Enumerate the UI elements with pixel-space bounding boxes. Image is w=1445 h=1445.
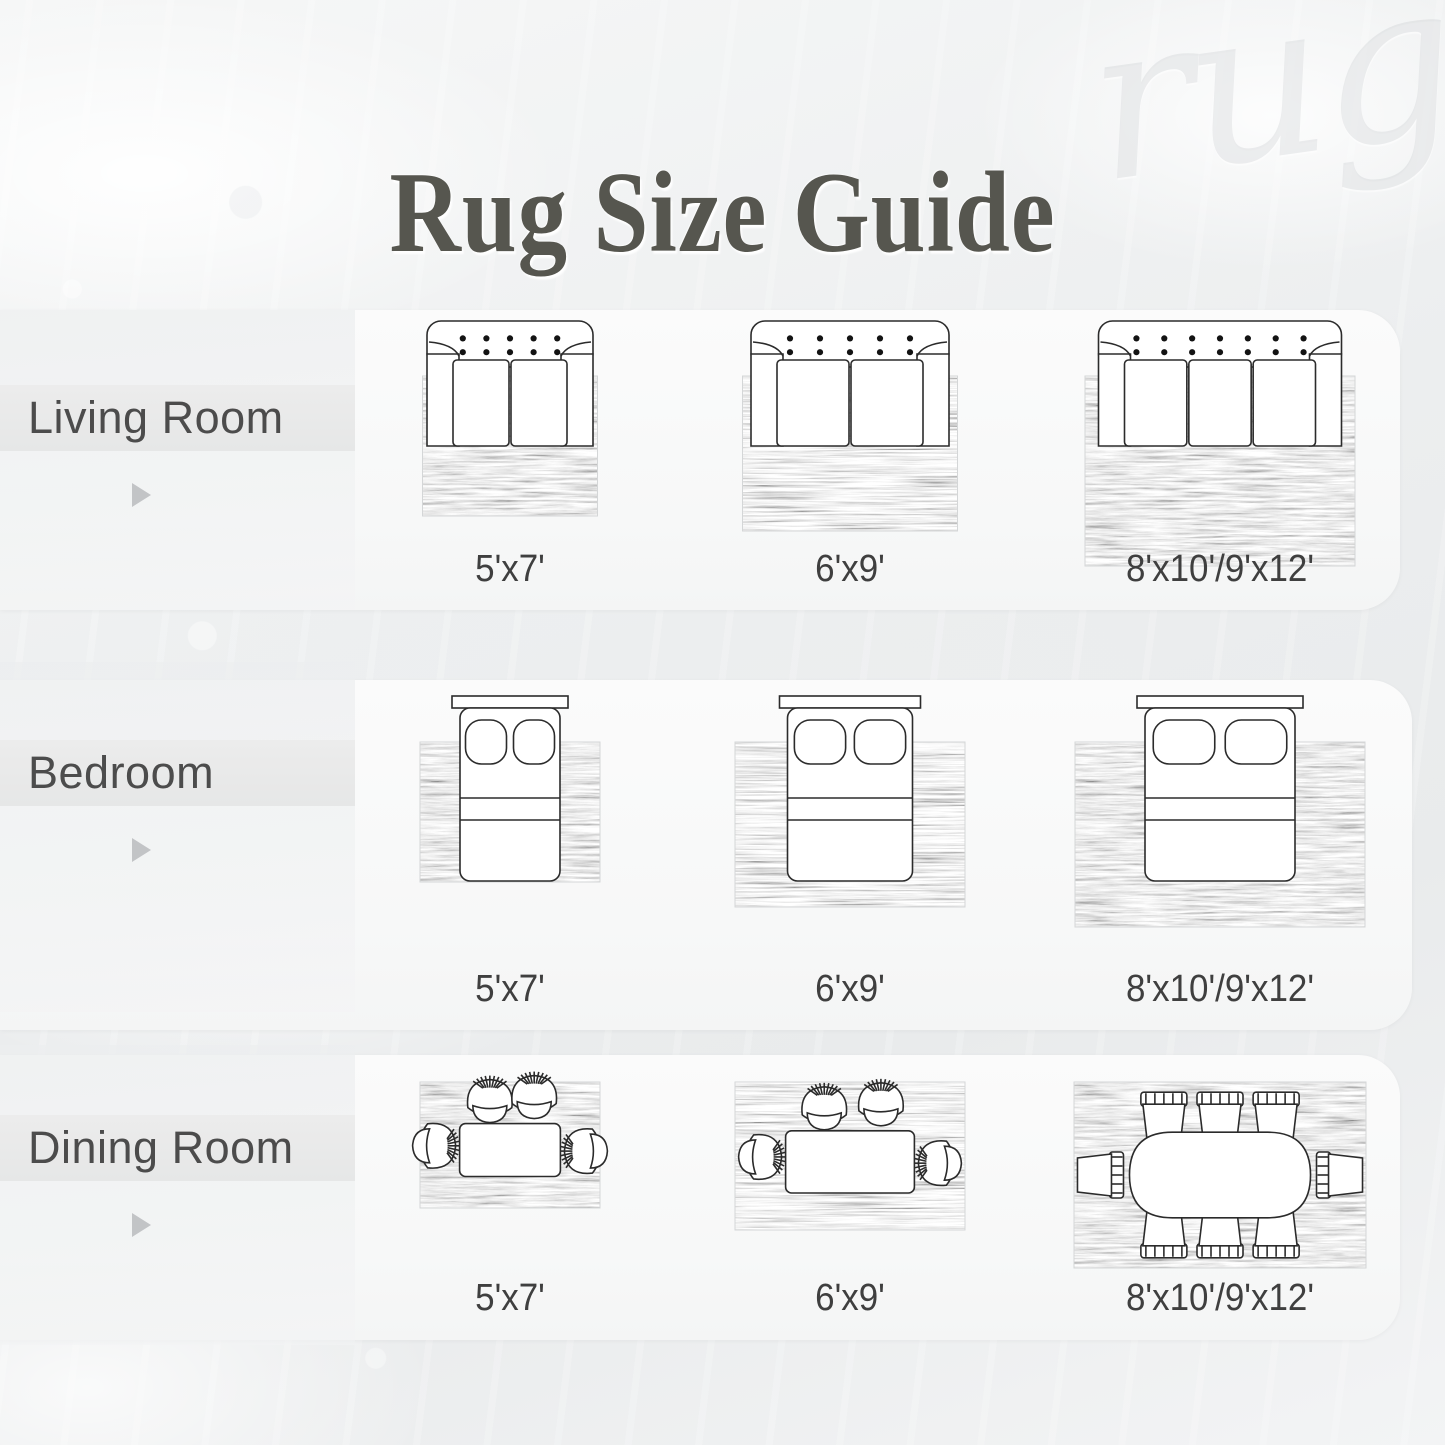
room-row-dining-room: Dining Room 5'x7' 6'x9' 8'x10'/9'x12' (0, 1055, 1445, 1340)
rug-size-cell-living-room-0[interactable]: 5'x7' (360, 310, 660, 610)
room-label-bedroom: Bedroom (0, 747, 214, 799)
rug-illustration-dining-table (1069, 1077, 1371, 1277)
room-row-bedroom: Bedroom 5'x7' 6'x9' 8'x10'/9'x12' (0, 680, 1445, 1030)
rug-size-label: 8'x10'/9'x12' (1054, 548, 1385, 591)
rug-size-cell-bedroom-0[interactable]: 5'x7' (360, 680, 660, 1030)
rug-size-label: 8'x10'/9'x12' (1054, 968, 1385, 1011)
page-title: Rug Size Guide (101, 155, 1344, 270)
rug-size-cell-bedroom-2[interactable]: 8'x10'/9'x12' (1040, 680, 1400, 1030)
rug-size-cell-dining-room-1[interactable]: 6'x9' (700, 1055, 1000, 1340)
rug-size-label: 5'x7' (372, 548, 648, 591)
rug-size-label: 6'x9' (712, 548, 988, 591)
rug-size-cell-dining-room-2[interactable]: 8'x10'/9'x12' (1040, 1055, 1400, 1340)
rug-illustration-sofa (418, 318, 603, 518)
room-label-band-bedroom[interactable]: Bedroom (0, 740, 355, 806)
room-label-band-living-room[interactable]: Living Room (0, 385, 355, 451)
rug-illustration-dining-table (730, 1077, 970, 1239)
rug-size-label: 6'x9' (712, 968, 988, 1011)
play-triangle-icon (132, 838, 151, 862)
play-triangle-icon (132, 483, 151, 507)
rug-size-cell-living-room-2[interactable]: 8'x10'/9'x12' (1040, 310, 1400, 610)
room-row-living-room: Living Room 5'x7' 6'x9' 8'x10'/9'x12' (0, 310, 1445, 610)
room-label-panel-living-room (0, 310, 355, 610)
rug-size-label: 5'x7' (372, 1277, 648, 1320)
rug-illustration-bed (730, 694, 970, 899)
rug-size-cell-dining-room-0[interactable]: 5'x7' (360, 1055, 660, 1340)
rug-size-label: 8'x10'/9'x12' (1054, 1277, 1385, 1320)
rug-illustration-bed (415, 694, 605, 899)
rug-size-cell-bedroom-1[interactable]: 6'x9' (700, 680, 1000, 1030)
rug-illustration-sofa (738, 318, 963, 533)
room-label-panel-dining-room (0, 1045, 355, 1345)
rug-size-label: 5'x7' (372, 968, 648, 1011)
rug-illustration-dining-table (415, 1077, 605, 1217)
room-label-dining-room: Dining Room (0, 1122, 294, 1174)
play-triangle-icon (132, 1213, 151, 1237)
room-label-band-dining-room[interactable]: Dining Room (0, 1115, 355, 1181)
rug-size-cell-living-room-1[interactable]: 6'x9' (700, 310, 1000, 610)
rug-size-label: 6'x9' (712, 1277, 988, 1320)
room-label-living-room: Living Room (0, 392, 284, 444)
room-label-panel-bedroom (0, 662, 355, 1012)
rug-illustration-bed (1070, 694, 1370, 899)
rug-illustration-sofa (1080, 318, 1360, 568)
